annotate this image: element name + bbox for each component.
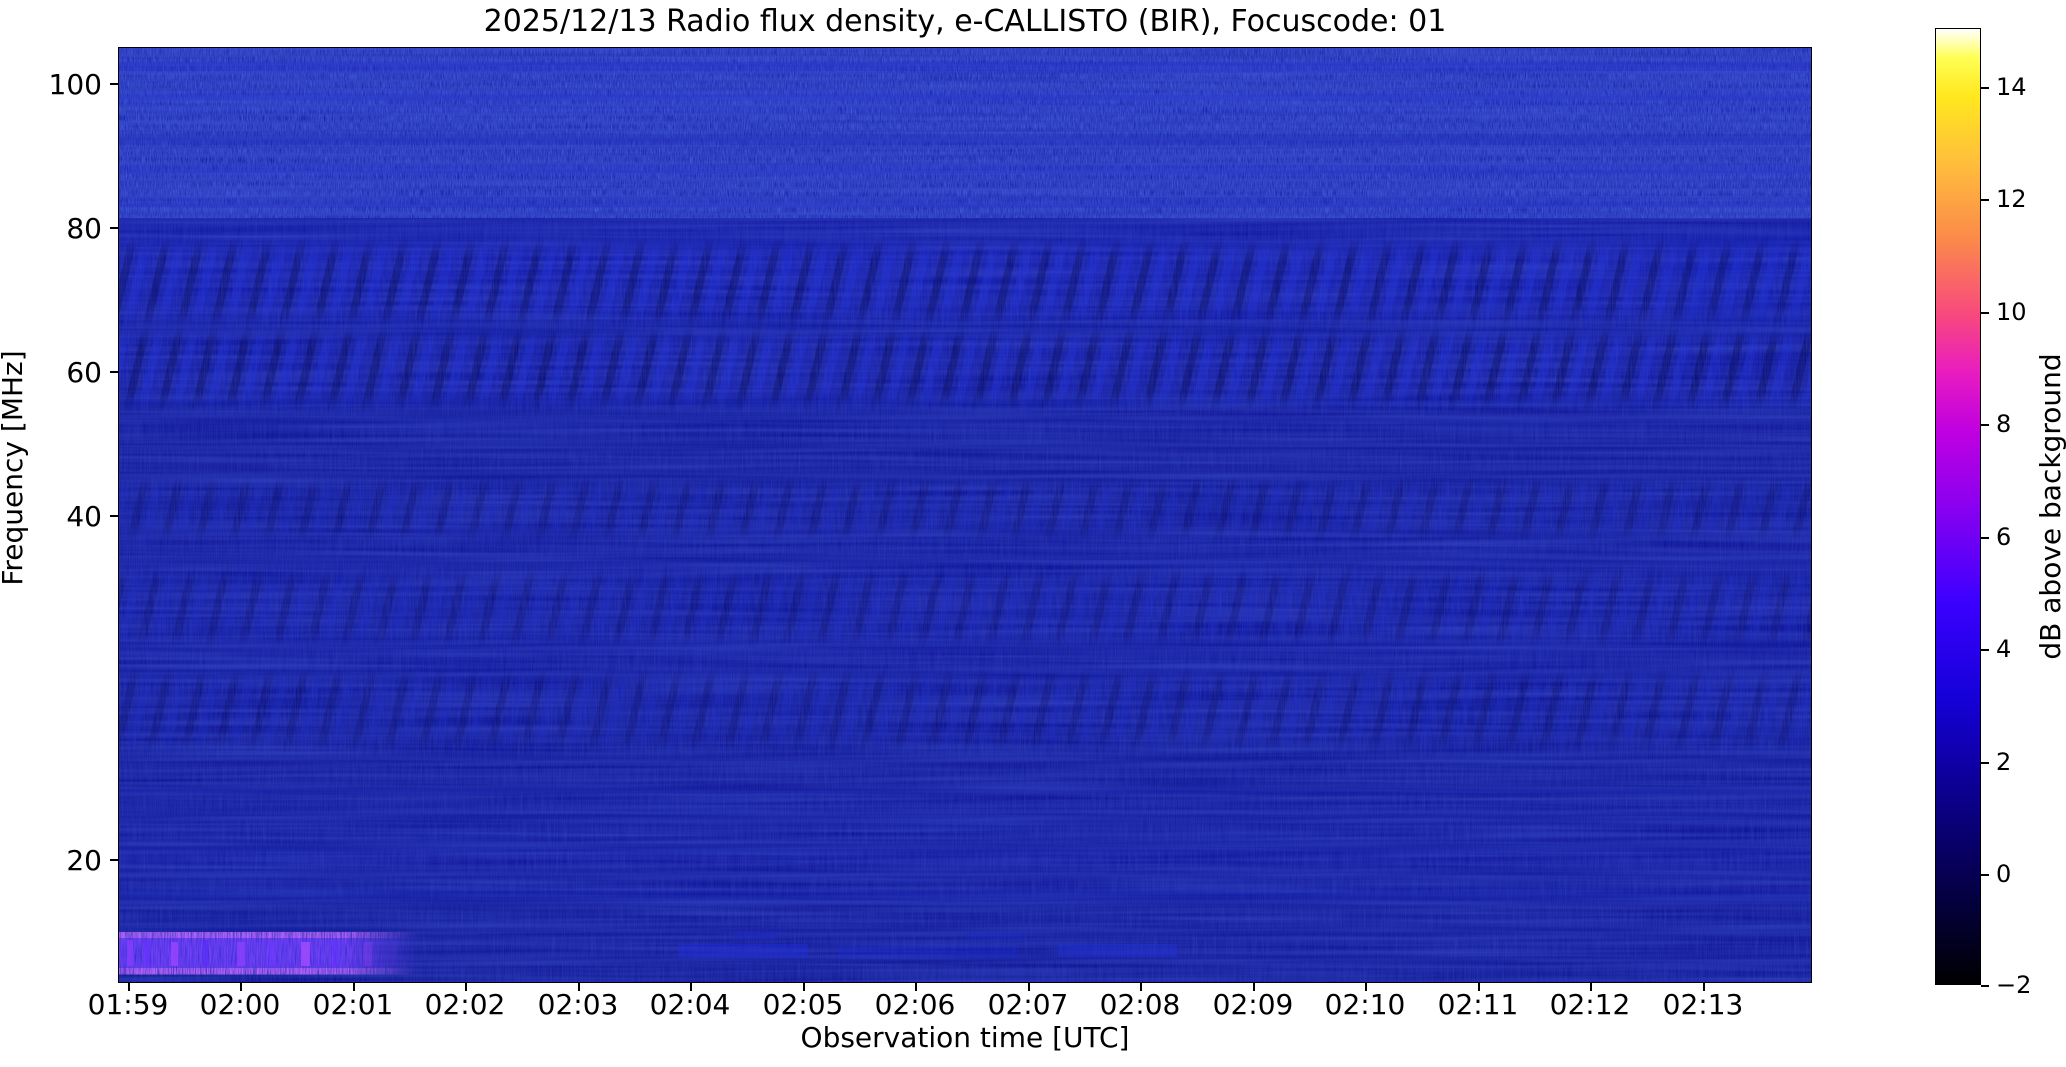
y-tick-mark	[110, 371, 118, 373]
y-tick-mark	[110, 515, 118, 517]
x-tick-label: 02:10	[1325, 988, 1406, 1021]
x-tick-label: 02:03	[538, 988, 619, 1021]
x-axis-label: Observation time [UTC]	[118, 1021, 1812, 1054]
colorbar-tick-label: 6	[1996, 523, 2011, 551]
colorbar-label: dB above background	[2036, 28, 2066, 985]
y-tick-label: 80	[40, 212, 102, 245]
x-tick-label: 02:04	[650, 988, 731, 1021]
colorbar-tick-mark	[1981, 537, 1989, 539]
x-tick-label: 02:11	[1438, 988, 1519, 1021]
colorbar[interactable]	[1935, 28, 1981, 985]
colorbar-tick-label: 8	[1996, 410, 2011, 438]
colorbar-tick-label: 10	[1996, 298, 2027, 326]
x-tick-label: 01:59	[88, 988, 169, 1021]
colorbar-tick-label: 4	[1996, 635, 2011, 663]
x-tick-label: 02:08	[1100, 988, 1181, 1021]
spectrogram-axes[interactable]	[118, 47, 1812, 983]
colorbar-tick-label: 2	[1996, 748, 2011, 776]
colorbar-tick-mark	[1981, 312, 1989, 314]
colorbar-gradient	[1936, 29, 1980, 984]
y-tick-label: 20	[40, 844, 102, 877]
x-tick-label: 02:05	[763, 988, 844, 1021]
spectrogram-heatmap	[119, 48, 1811, 982]
y-tick-mark	[110, 83, 118, 85]
colorbar-tick-mark	[1981, 424, 1989, 426]
colorbar-tick-mark	[1981, 985, 1989, 987]
x-tick-label: 02:12	[1550, 988, 1631, 1021]
page-title: 2025/12/13 Radio flux density, e-CALLIST…	[118, 4, 1812, 39]
colorbar-tick-mark	[1981, 874, 1989, 876]
colorbar-tick-mark	[1981, 199, 1989, 201]
colorbar-tick-label: 0	[1996, 860, 2011, 888]
colorbar-tick-label: −2	[1996, 971, 2031, 999]
x-tick-label: 02:00	[200, 988, 281, 1021]
x-tick-label: 02:13	[1663, 988, 1744, 1021]
x-tick-label: 02:09	[1213, 988, 1294, 1021]
colorbar-tick-mark	[1981, 649, 1989, 651]
colorbar-tick-label: 12	[1996, 185, 2027, 213]
x-tick-label: 02:01	[313, 988, 394, 1021]
y-tick-label: 100	[40, 68, 102, 101]
y-tick-mark	[110, 227, 118, 229]
colorbar-tick-mark	[1981, 762, 1989, 764]
colorbar-tick-label: 14	[1996, 73, 2027, 101]
y-axis-label: Frequency [MHz]	[0, 0, 28, 936]
colorbar-tick-mark	[1981, 87, 1989, 89]
x-tick-label: 02:02	[425, 988, 506, 1021]
y-tick-label: 60	[40, 356, 102, 389]
x-tick-label: 02:07	[988, 988, 1069, 1021]
y-tick-mark	[110, 859, 118, 861]
y-tick-label: 40	[40, 500, 102, 533]
x-tick-label: 02:06	[875, 988, 956, 1021]
